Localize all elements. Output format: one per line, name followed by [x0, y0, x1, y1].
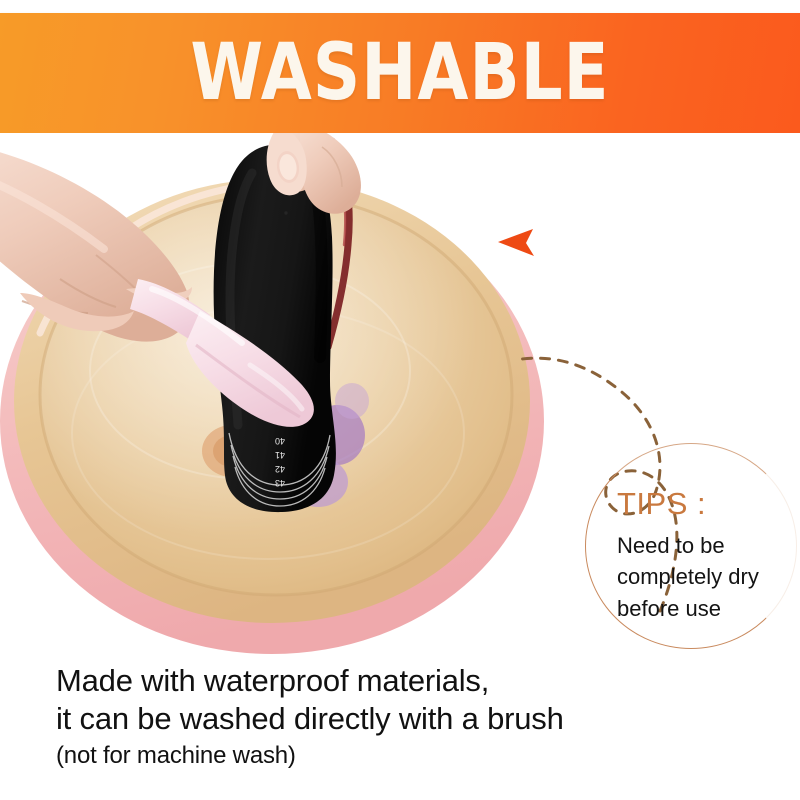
tips-callout: TIPS : Need to be completely dry before … [585, 443, 800, 653]
banner-title: WASHABLE [190, 34, 609, 112]
header-banner: WASHABLE [0, 13, 800, 133]
bottom-caption: Made with waterproof materials, it can b… [56, 662, 756, 774]
tips-line-2: completely dry [617, 561, 797, 592]
tips-text: TIPS : Need to be completely dry before … [617, 487, 797, 624]
size-mark-43: 43 [275, 478, 285, 488]
arrowhead-icon [498, 229, 534, 256]
size-mark-40: 40 [275, 436, 285, 446]
caption-line-1: Made with waterproof materials, [56, 662, 756, 700]
caption-line-3: (not for machine wash) [56, 739, 756, 774]
tips-line-3: before use [617, 593, 797, 624]
tips-line-1: Need to be [617, 530, 797, 561]
size-mark-41: 41 [275, 450, 285, 460]
caption-line-2: it can be washed directly with a brush [56, 700, 756, 738]
product-graphic-root: WASHABLE [0, 0, 800, 800]
tips-label: TIPS : [617, 487, 797, 521]
size-mark-42: 42 [275, 464, 285, 474]
